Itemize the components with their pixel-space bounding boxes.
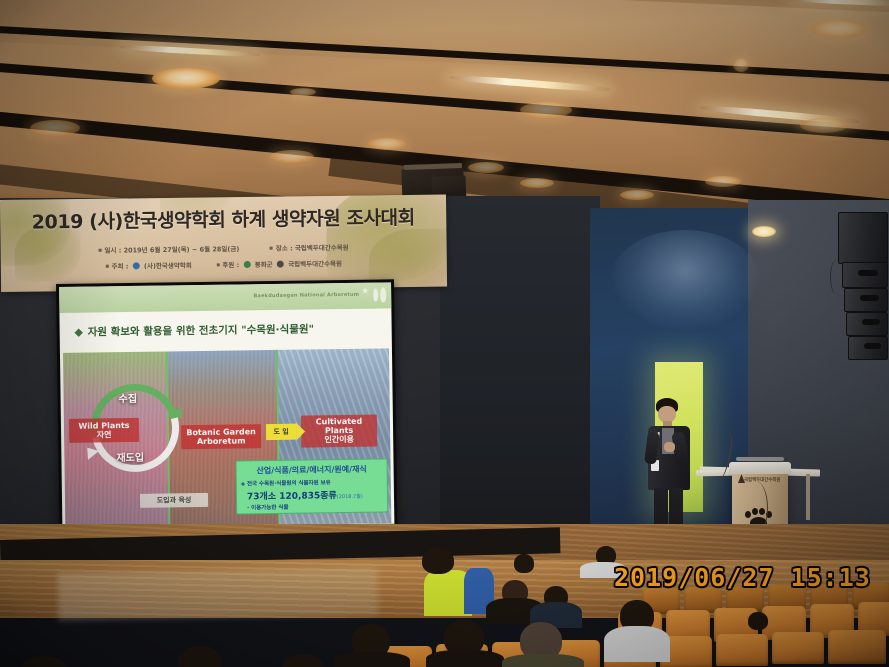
presenter-hand (664, 442, 675, 452)
audience-head (20, 656, 66, 667)
wall-spotlight-glow (610, 230, 760, 330)
cycle-label-reintroduce: 재도입 (116, 449, 144, 464)
ceiling-downlight (468, 162, 504, 173)
banner-date: 일시 : 2019년 6월 27일(목) ~ 6월 28일(금) (104, 245, 239, 255)
camera-timestamp: 2019/06/27 15:13 (614, 563, 871, 592)
green-box-line-3: · 이용가능한 식물 (247, 503, 288, 512)
line-array-speaker (822, 212, 888, 364)
podium-logo-text: 국립백두대간수목원 (744, 477, 780, 483)
ceiling-downlight (620, 190, 654, 200)
audience-head (178, 646, 222, 667)
side-table-leg (806, 474, 810, 520)
audience-head (422, 548, 454, 574)
ceiling-downlight (270, 150, 314, 163)
slide-title: 자원 확보와 활용을 위한 전초기지 "수목원·식물원" (76, 321, 315, 339)
ceiling-downlight (30, 120, 80, 136)
bullet-diamond-icon (74, 328, 82, 336)
seat (716, 634, 768, 666)
arboretum-en: Arboretum (183, 436, 259, 446)
host-logo-icon (133, 262, 140, 269)
projection-screen-frame: Baekdudaegan National Arboretum ★ 자원 확보와… (56, 279, 398, 548)
banner-venue: 장소 : 국립백두대간수목원 (276, 244, 349, 253)
star-icon: ★ (361, 288, 369, 297)
audience-shoulders (502, 654, 584, 667)
stage-wall-back-dark (440, 196, 600, 566)
cycle-label-collect: 수집 (118, 390, 137, 405)
ceiling-downlight (520, 178, 554, 188)
wild-plants-ko: 자연 (71, 430, 137, 440)
banner-host-label: 주최 : (112, 262, 129, 270)
green-box-line-1: ◈ 전국 수목원·식물원의 식물자원 보유 (241, 478, 331, 487)
label-cultivated-plants: Cultivated Plants 인간이용 (301, 415, 377, 448)
seat (772, 632, 824, 664)
green-info-box: 산업/식품/의료/에너지/원예/재식 ◈ 전국 수목원·식물원의 식물자원 보유… (235, 458, 388, 514)
leaf-icon (380, 287, 386, 302)
green-box-statistic: 73개소 120,835종류(2018.7월) (247, 488, 363, 503)
audience-head (514, 554, 534, 573)
seat (828, 630, 886, 664)
leaf-icon (373, 289, 378, 302)
label-wild-plants: Wild Plants 자연 (69, 418, 139, 443)
banner-sponsor-org2: 국립백두대간수목원 (288, 260, 342, 269)
ceiling-downlight (733, 58, 749, 72)
ceiling-downlight (152, 68, 220, 89)
banner-title: 2019 (사)한국생약학회 하계 생약자원 조사대회 (0, 203, 446, 235)
ceiling-downlight (368, 138, 406, 150)
cultivated-ko: 인간이용 (303, 435, 375, 445)
green-box-heading: 산업/식품/의료/에너지/원예/재식 (237, 463, 387, 476)
banner-host-org: (사)한국생약학회 (144, 262, 192, 271)
label-botanic-garden: Botanic Garden Arboretum (181, 424, 261, 449)
botanic-garden-en: Botanic Garden (183, 427, 259, 437)
ceiling-downlight (810, 20, 868, 38)
ceiling-downlight (520, 102, 572, 118)
banner-sponsor-org1: 봉화군 (255, 261, 273, 269)
sponsor-logo-icon-2 (277, 261, 284, 268)
presentation-slide: Baekdudaegan National Arboretum ★ 자원 확보와… (59, 282, 395, 543)
event-banner: 2019 (사)한국생약학회 하계 생약자원 조사대회 일시 : 2019년 6… (0, 195, 447, 292)
audience-head (282, 654, 324, 667)
ceiling-downlight (705, 176, 741, 187)
sponsor-logo-icon-1 (243, 261, 250, 268)
audience-head (748, 612, 768, 630)
audience-shoulders (604, 626, 670, 662)
podium-rail (736, 457, 784, 461)
import-arrow: 도 입 (266, 424, 296, 440)
stage-spotlight (752, 226, 776, 237)
audience-shoulders (334, 652, 410, 667)
auditorium-photo: 2019 (사)한국생약학회 하계 생약자원 조사대회 일시 : 2019년 6… (0, 0, 889, 667)
banner-sponsor-label: 후원 : (222, 261, 239, 269)
ceiling-downlight (290, 88, 316, 96)
import-arrow-label: 도 입 (273, 427, 288, 437)
ceiling-downlight (800, 118, 848, 133)
audience-shoulders (426, 650, 504, 667)
grey-tab-label: 도입과 육성 (140, 493, 208, 508)
podium-desktop (729, 462, 791, 474)
